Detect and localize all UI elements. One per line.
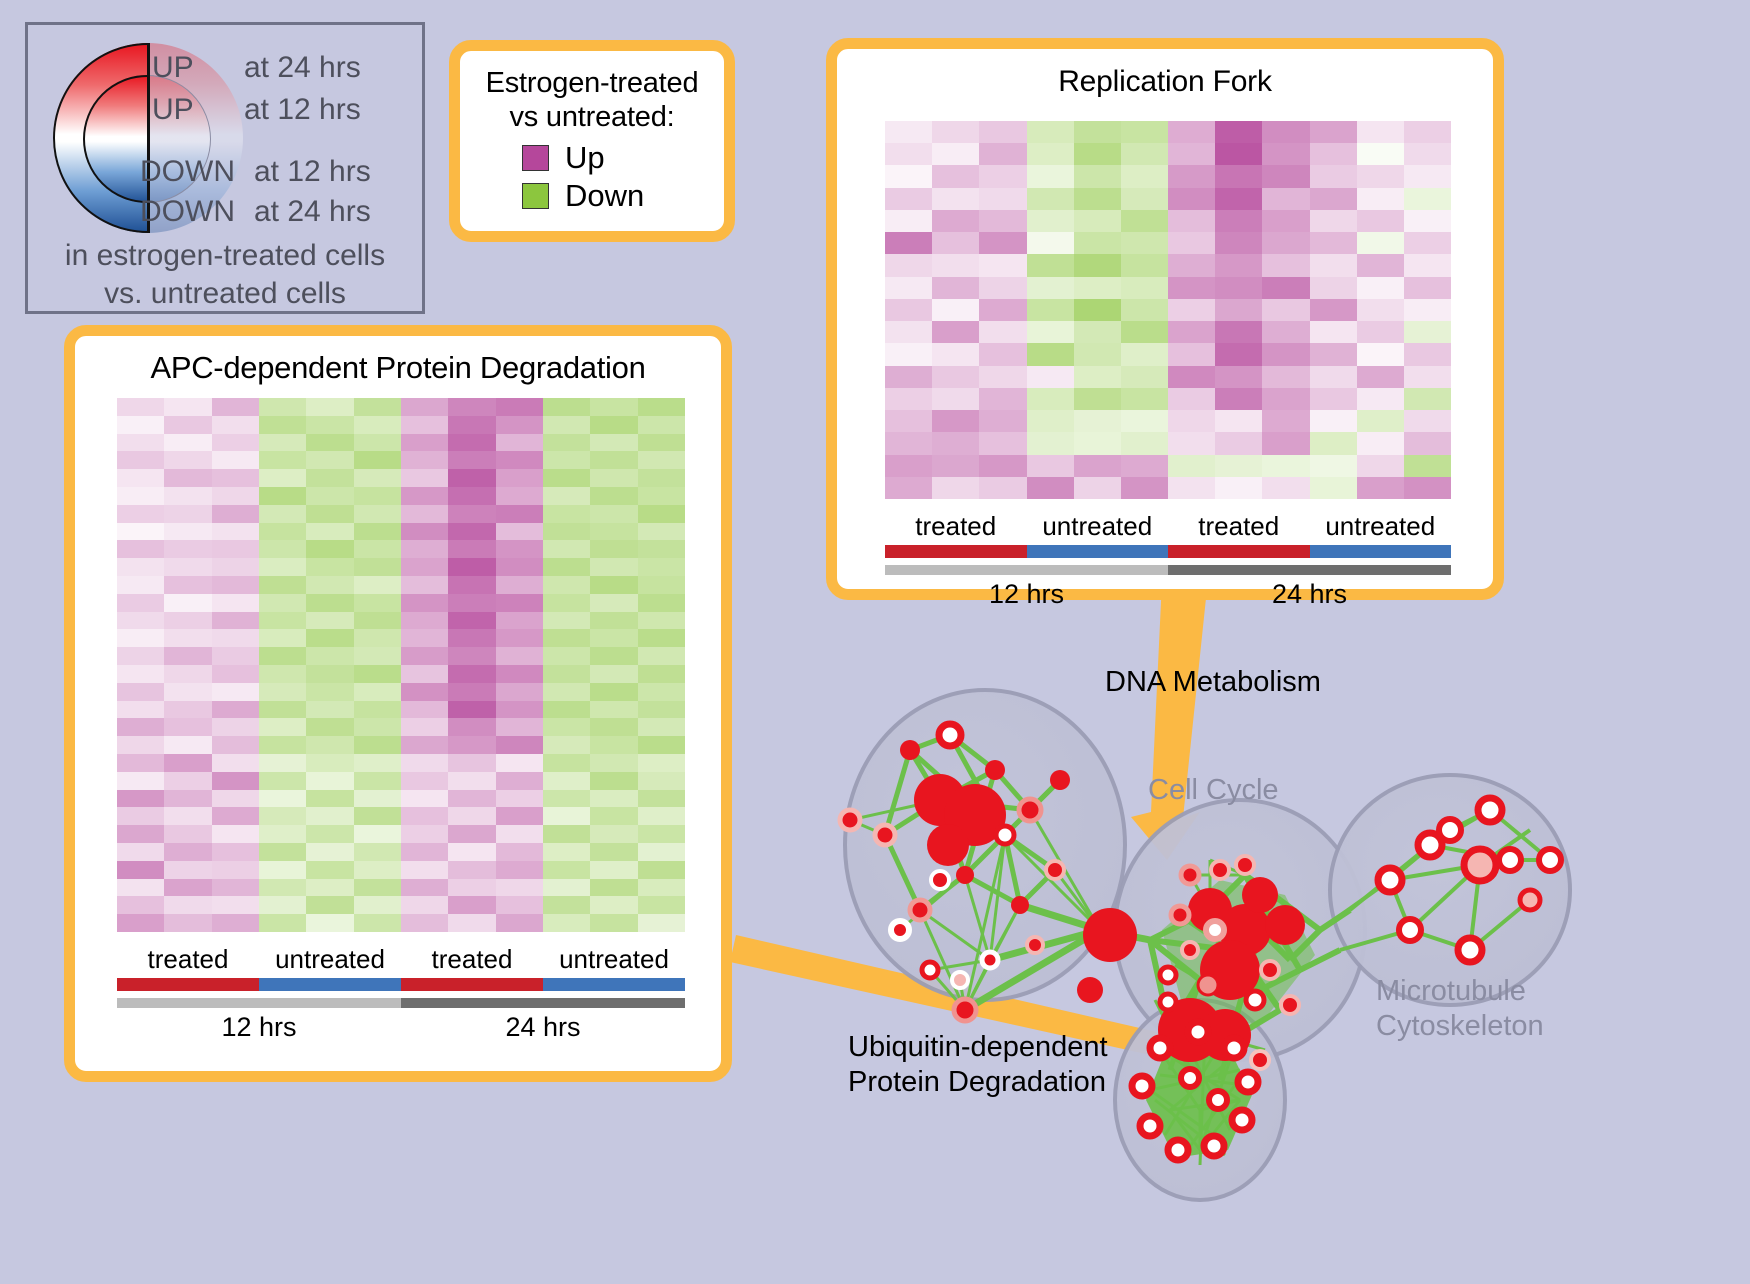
heatmap-cell <box>354 416 401 434</box>
heatmap-cell <box>979 188 1026 210</box>
heatmap-cell <box>1074 188 1121 210</box>
heatmap-cell <box>1074 254 1121 276</box>
heatmap-cell <box>543 416 590 434</box>
heatmap-cell <box>259 505 306 523</box>
heatmap-cell <box>117 843 164 861</box>
heatmap-cell <box>117 754 164 772</box>
heatmap-cell <box>354 665 401 683</box>
heatmap-cell <box>1357 321 1404 343</box>
heatmap-cell <box>543 843 590 861</box>
heatmap-cell <box>306 843 353 861</box>
heatmap-cell <box>117 665 164 683</box>
heatmap-cell <box>1404 121 1451 143</box>
heatmap-cell <box>306 665 353 683</box>
heatmap-cell <box>590 398 637 416</box>
heatmap-cell <box>1074 165 1121 187</box>
heatmap-cell <box>1310 188 1357 210</box>
heatmap-cell <box>448 665 495 683</box>
timepoint-bar-segment <box>885 565 1168 575</box>
heatmap-cell <box>1310 165 1357 187</box>
heatmap-cell <box>496 434 543 452</box>
heatmap-cell <box>543 647 590 665</box>
heatmap-cell <box>354 718 401 736</box>
heatmap-cell <box>638 558 685 576</box>
heatmap-cell <box>496 914 543 932</box>
heatmap-cell <box>885 455 932 477</box>
heatmap-cell <box>401 434 448 452</box>
heatmap-cell <box>117 505 164 523</box>
heatmap-cell <box>1168 277 1215 299</box>
network-hub-node <box>1083 908 1137 962</box>
heatmap-cell <box>401 576 448 594</box>
heatmap-cell <box>1168 232 1215 254</box>
heatmap-cell <box>164 505 211 523</box>
heatmap-cell <box>354 558 401 576</box>
heatmap-cell <box>259 736 306 754</box>
heatmap-cell <box>1121 165 1168 187</box>
apc-condition-strip: treateduntreatedtreateduntreated 12 hrs2… <box>117 944 685 1043</box>
heatmap-cell <box>496 558 543 576</box>
heatmap-cell <box>1168 299 1215 321</box>
apc-card: APC-dependent Protein Degradation treate… <box>64 325 732 1082</box>
heatmap-cell <box>1027 165 1074 187</box>
heatmap-cell <box>932 277 979 299</box>
heatmap-cell <box>590 505 637 523</box>
heatmap-cell <box>638 576 685 594</box>
heatmap-cell <box>306 790 353 808</box>
heatmap-cell <box>212 896 259 914</box>
heatmap-cell <box>979 121 1026 143</box>
heatmap-cell <box>1310 143 1357 165</box>
heatmap-cell <box>638 487 685 505</box>
heatmap-cell <box>306 629 353 647</box>
heatmap-cell <box>448 790 495 808</box>
heatmap-cell <box>590 825 637 843</box>
heatmap-cell <box>590 540 637 558</box>
heatmap-cell <box>259 487 306 505</box>
heatmap-cell <box>1310 321 1357 343</box>
heatmap-cell <box>354 647 401 665</box>
heatmap-cell <box>354 398 401 416</box>
heatmap-cell <box>1215 410 1262 432</box>
heatmap-cell <box>401 754 448 772</box>
heatmap-cell <box>590 647 637 665</box>
heatmap-cell <box>1262 232 1309 254</box>
heatmap-cell <box>259 914 306 932</box>
heatmap-cell <box>164 594 211 612</box>
heatmap-cell <box>354 914 401 932</box>
heatmap-cell <box>638 505 685 523</box>
heatmap-cell <box>259 558 306 576</box>
heatmap-cell <box>543 505 590 523</box>
heatmap-cell <box>117 416 164 434</box>
heatmap-cell <box>354 434 401 452</box>
heatmap-cell <box>1262 143 1309 165</box>
heatmap-cell <box>212 469 259 487</box>
heatmap-cell <box>212 665 259 683</box>
condition-bar-segment <box>1027 545 1169 558</box>
heatmap-cell <box>117 914 164 932</box>
heatmap-cell <box>1357 388 1404 410</box>
heatmap-cell <box>117 469 164 487</box>
heatmap-cell <box>212 594 259 612</box>
heatmap-cell <box>1074 366 1121 388</box>
heatmap-cell <box>1262 388 1309 410</box>
heatmap-cell <box>638 914 685 932</box>
heatmap-cell <box>885 321 932 343</box>
heatmap-cell <box>543 665 590 683</box>
condition-bar-segment <box>1168 545 1310 558</box>
heatmap-cell <box>212 398 259 416</box>
heatmap-cell <box>543 558 590 576</box>
heatmap-cell <box>543 736 590 754</box>
heatmap-cell <box>885 299 932 321</box>
heatmap-cell <box>448 505 495 523</box>
heatmap-cell <box>306 914 353 932</box>
heatmap-cell <box>932 121 979 143</box>
timepoint-colorbar <box>117 998 685 1008</box>
heatmap-cell <box>306 505 353 523</box>
heatmap-cell <box>117 629 164 647</box>
heatmap-cell <box>1168 321 1215 343</box>
heatmap-cell <box>496 807 543 825</box>
heatmap-cell <box>164 896 211 914</box>
heatmap-cell <box>1357 455 1404 477</box>
heatmap-cell <box>259 718 306 736</box>
heatmap-cell <box>1168 210 1215 232</box>
heatmap-cell <box>306 807 353 825</box>
heatmap-cell <box>932 254 979 276</box>
heatmap-cell <box>401 612 448 630</box>
heatmap-cell <box>259 861 306 879</box>
heatmap-cell <box>590 843 637 861</box>
heatmap-cell <box>306 434 353 452</box>
heatmap-cell <box>448 523 495 541</box>
condition-label: untreated <box>543 944 685 975</box>
heatmap-cell <box>164 772 211 790</box>
heatmap-cell <box>354 701 401 719</box>
heatmap-cell <box>932 321 979 343</box>
heatmap-cell <box>1074 143 1121 165</box>
heatmap-cell <box>1215 299 1262 321</box>
heatmap-cell <box>164 434 211 452</box>
down-swatch-icon <box>522 183 549 209</box>
heatmap-cell <box>164 790 211 808</box>
heatmap-cell <box>543 469 590 487</box>
heatmap-cell <box>1357 299 1404 321</box>
heatmap-cell <box>212 754 259 772</box>
heatmap-cell <box>354 629 401 647</box>
heatmap-cell <box>306 754 353 772</box>
heatmap-cell <box>1027 299 1074 321</box>
heatmap-cell <box>401 647 448 665</box>
heatmap-cell <box>164 843 211 861</box>
heatmap-cell <box>590 434 637 452</box>
heatmap-cell <box>259 843 306 861</box>
heatmap-cell <box>885 210 932 232</box>
condition-label: untreated <box>1027 511 1169 542</box>
heatmap-cell <box>212 790 259 808</box>
heatmap-cell <box>1357 188 1404 210</box>
heatmap-cell <box>1121 232 1168 254</box>
heatmap-cell <box>496 540 543 558</box>
heatmap-cell <box>496 896 543 914</box>
heatmap-cell <box>259 807 306 825</box>
heatmap-cell <box>354 861 401 879</box>
heatmap-cell <box>1074 477 1121 499</box>
heatmap-cell <box>1215 277 1262 299</box>
heatmap-cell <box>306 718 353 736</box>
heatmap-cell <box>306 772 353 790</box>
heatmap-cell <box>1310 477 1357 499</box>
heatmap-cell <box>1074 232 1121 254</box>
heatmap-cell <box>354 825 401 843</box>
heatmap-cell <box>117 879 164 897</box>
heatmap-cell <box>590 861 637 879</box>
heatmap-cell <box>496 772 543 790</box>
heatmap-cell <box>496 790 543 808</box>
heatmap-cell <box>979 254 1026 276</box>
updown-legend-items: Up Down <box>460 140 724 214</box>
heatmap-cell <box>1121 188 1168 210</box>
heatmap-cell <box>164 576 211 594</box>
heatmap-cell <box>117 576 164 594</box>
heatmap-cell <box>401 416 448 434</box>
heatmap-cell <box>164 558 211 576</box>
cluster-label-dna-metabolism: DNA Metabolism <box>1105 666 1321 699</box>
heatmap-cell <box>212 451 259 469</box>
heatmap-cell <box>590 523 637 541</box>
heatmap-cell <box>1215 210 1262 232</box>
heatmap-cell <box>638 879 685 897</box>
heatmap-cell <box>117 772 164 790</box>
condition-label: treated <box>401 944 543 975</box>
heatmap-cell <box>979 210 1026 232</box>
heatmap-cell <box>1310 254 1357 276</box>
heatmap-cell <box>1215 321 1262 343</box>
heatmap-cell <box>496 861 543 879</box>
pathway-network-diagram: DNA Metabolism Cell Cycle Microtubule Cy… <box>790 630 1750 1279</box>
heatmap-cell <box>212 736 259 754</box>
heatmap-cell <box>448 825 495 843</box>
heatmap-cell <box>1215 232 1262 254</box>
heatmap-cell <box>932 366 979 388</box>
heatmap-cell <box>212 683 259 701</box>
heatmap-cell <box>306 647 353 665</box>
scale-direction-3: DOWN <box>140 195 235 229</box>
heatmap-cell <box>212 843 259 861</box>
heatmap-cell <box>885 366 932 388</box>
heatmap-cell <box>590 629 637 647</box>
heatmap-cell <box>354 505 401 523</box>
heatmap-cell <box>259 879 306 897</box>
heatmap-cell <box>212 434 259 452</box>
heatmap-cell <box>117 434 164 452</box>
heatmap-cell <box>1310 299 1357 321</box>
heatmap-cell <box>1121 143 1168 165</box>
heatmap-cell <box>1121 410 1168 432</box>
heatmap-cell <box>212 523 259 541</box>
condition-bar-segment <box>1310 545 1452 558</box>
scale-direction-2: DOWN <box>140 155 235 189</box>
heatmap-cell <box>401 451 448 469</box>
condition-label: treated <box>885 511 1027 542</box>
heatmap-cell <box>1074 343 1121 365</box>
heatmap-cell <box>259 416 306 434</box>
heatmap-cell <box>496 754 543 772</box>
heatmap-cell <box>1404 432 1451 454</box>
heatmap-cell <box>1168 388 1215 410</box>
heatmap-cell <box>1027 366 1074 388</box>
heatmap-cell <box>1357 143 1404 165</box>
heatmap-cell <box>448 594 495 612</box>
timepoint-label: 24 hrs <box>1168 579 1451 610</box>
heatmap-cell <box>590 665 637 683</box>
heatmap-cell <box>212 487 259 505</box>
heatmap-cell <box>1310 455 1357 477</box>
heatmap-cell <box>1121 366 1168 388</box>
heatmap-cell <box>638 701 685 719</box>
heatmap-cell <box>259 523 306 541</box>
heatmap-cell <box>164 523 211 541</box>
heatmap-cell <box>590 451 637 469</box>
heatmap-cell <box>496 469 543 487</box>
condition-bar-segment <box>117 978 259 991</box>
heatmap-cell <box>543 594 590 612</box>
heatmap-cell <box>1121 455 1168 477</box>
heatmap-cell <box>448 451 495 469</box>
heatmap-cell <box>1027 455 1074 477</box>
heatmap-cell <box>354 790 401 808</box>
heatmap-cell <box>354 754 401 772</box>
heatmap-cell <box>117 683 164 701</box>
heatmap-cell <box>496 843 543 861</box>
heatmap-cell <box>496 825 543 843</box>
heatmap-cell <box>401 825 448 843</box>
heatmap-cell <box>212 772 259 790</box>
heatmap-cell <box>638 790 685 808</box>
heatmap-cell <box>932 388 979 410</box>
heatmap-cell <box>638 434 685 452</box>
heatmap-cell <box>543 398 590 416</box>
heatmap-cell <box>1404 388 1451 410</box>
condition-colorbar <box>117 978 685 991</box>
heatmap-cell <box>354 469 401 487</box>
heatmap-cell <box>117 558 164 576</box>
heatmap-cell <box>164 914 211 932</box>
condition-bar-segment <box>543 978 685 991</box>
replication-fork-condition-strip: treateduntreatedtreateduntreated 12 hrs2… <box>885 511 1451 610</box>
heatmap-cell <box>212 825 259 843</box>
heatmap-cell <box>1027 410 1074 432</box>
heatmap-cell <box>164 665 211 683</box>
heatmap-cell <box>590 683 637 701</box>
heatmap-cell <box>1404 254 1451 276</box>
heatmap-cell <box>1168 165 1215 187</box>
heatmap-cell <box>979 455 1026 477</box>
heatmap-cell <box>354 683 401 701</box>
heatmap-cell <box>164 416 211 434</box>
heatmap-cell <box>306 487 353 505</box>
heatmap-cell <box>1404 343 1451 365</box>
replication-fork-title: Replication Fork <box>837 49 1493 99</box>
heatmap-cell <box>1027 277 1074 299</box>
scale-time-2: at 12 hrs <box>254 155 371 189</box>
heatmap-cell <box>590 790 637 808</box>
heatmap-cell <box>306 612 353 630</box>
heatmap-cell <box>401 896 448 914</box>
apc-title: APC-dependent Protein Degradation <box>75 336 721 386</box>
heatmap-cell <box>401 487 448 505</box>
heatmap-cell <box>117 896 164 914</box>
heatmap-cell <box>259 594 306 612</box>
heatmap-cell <box>354 612 401 630</box>
heatmap-cell <box>401 505 448 523</box>
heatmap-cell <box>1310 277 1357 299</box>
heatmap-cell <box>1357 121 1404 143</box>
heatmap-cell <box>979 477 1026 499</box>
heatmap-cell <box>1215 254 1262 276</box>
legend-item-down: Down <box>522 178 724 214</box>
heatmap-cell <box>496 647 543 665</box>
heatmap-cell <box>1357 366 1404 388</box>
heatmap-cell <box>590 718 637 736</box>
heatmap-cell <box>638 416 685 434</box>
heatmap-cell <box>164 451 211 469</box>
heatmap-cell <box>448 896 495 914</box>
heatmap-cell <box>306 558 353 576</box>
heatmap-cell <box>1404 455 1451 477</box>
figure-canvas: UP at 24 hrs UP at 12 hrs DOWN at 12 hrs… <box>0 0 1750 1279</box>
heatmap-cell <box>590 612 637 630</box>
scale-direction-0: UP <box>152 51 194 85</box>
heatmap-cell <box>590 772 637 790</box>
heatmap-cell <box>401 718 448 736</box>
heatmap-cell <box>259 825 306 843</box>
heatmap-cell <box>1357 165 1404 187</box>
replication-fork-card: Replication Fork treateduntreatedtreated… <box>826 38 1504 600</box>
heatmap-cell <box>448 398 495 416</box>
heatmap-cell <box>448 736 495 754</box>
heatmap-cell <box>885 343 932 365</box>
heatmap-cell <box>543 772 590 790</box>
heatmap-cell <box>638 896 685 914</box>
heatmap-cell <box>885 143 932 165</box>
heatmap-cell <box>932 432 979 454</box>
heatmap-cell <box>638 683 685 701</box>
heatmap-cell <box>1027 477 1074 499</box>
heatmap-cell <box>259 612 306 630</box>
cluster-label-microtubule: Microtubule Cytoskeleton <box>1376 974 1544 1044</box>
heatmap-cell <box>979 143 1026 165</box>
scale-time-1: at 12 hrs <box>244 93 361 127</box>
heatmap-cell <box>638 665 685 683</box>
heatmap-cell <box>1121 121 1168 143</box>
heatmap-cell <box>638 772 685 790</box>
heatmap-cell <box>448 807 495 825</box>
heatmap-cell <box>1027 210 1074 232</box>
heatmap-cell <box>306 879 353 897</box>
heatmap-cell <box>212 416 259 434</box>
heatmap-cell <box>354 879 401 897</box>
heatmap-cell <box>401 790 448 808</box>
heatmap-cell <box>401 523 448 541</box>
heatmap-cell <box>1168 188 1215 210</box>
heatmap-cell <box>638 825 685 843</box>
color-scale-footer: in estrogen-treated cells vs. untreated … <box>28 237 422 314</box>
heatmap-cell <box>164 647 211 665</box>
heatmap-cell <box>401 665 448 683</box>
